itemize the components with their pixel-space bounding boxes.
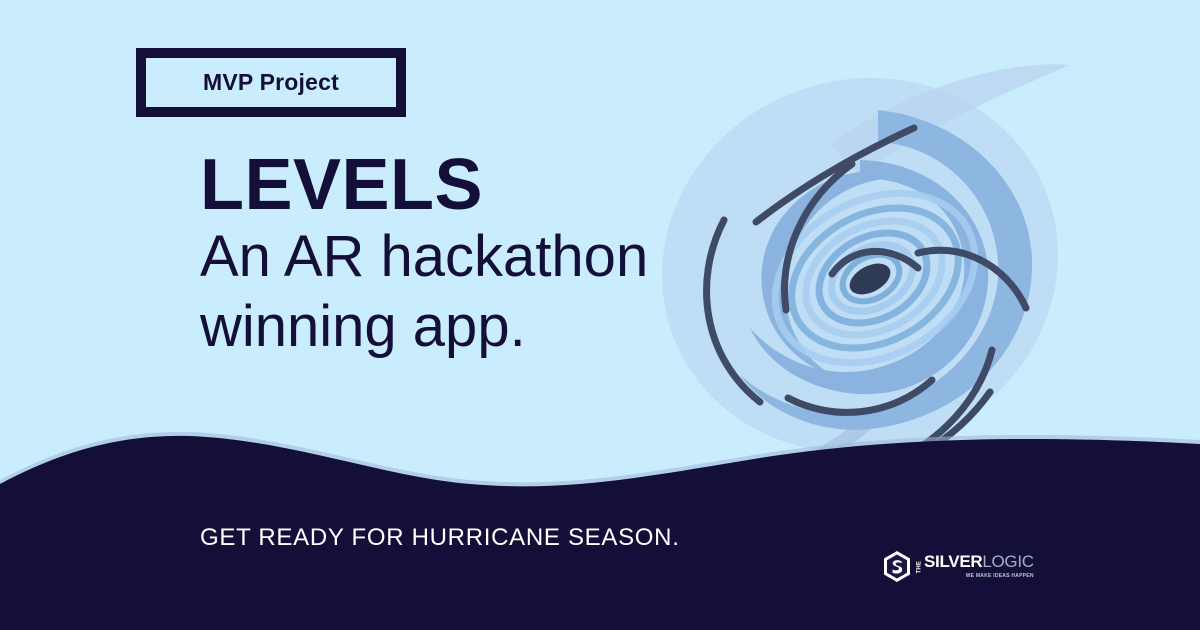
- brand-logic: LOGIC: [982, 553, 1033, 571]
- brand-the: THE: [917, 560, 924, 574]
- the-silver-logic-logo: THE SILVER LOGIC WE MAKE IDEAS HAPPEN: [882, 549, 1034, 583]
- wave-divider: [0, 400, 1200, 630]
- brand-tagline: WE MAKE IDEAS HAPPEN: [917, 573, 1034, 579]
- brand-wordmark: THE SILVER LOGIC: [917, 553, 1034, 571]
- badge-label: MVP Project: [203, 69, 339, 96]
- promo-banner: MVP Project LEVELS An AR hackathon winni…: [0, 0, 1200, 630]
- footer-tagline: GET READY FOR HURRICANE SEASON.: [200, 524, 680, 552]
- headline-subtitle-line-2: winning app.: [200, 292, 760, 362]
- brand-logo-text: THE SILVER LOGIC WE MAKE IDEAS HAPPEN: [917, 550, 1034, 583]
- headline-subtitle-line-1: An AR hackathon: [200, 222, 760, 292]
- mvp-project-badge: MVP Project: [136, 48, 406, 117]
- hexagon-s-logo-icon: [882, 550, 912, 583]
- brand-silver: SILVER: [924, 553, 982, 571]
- headline-block: LEVELS An AR hackathon winning app.: [200, 148, 760, 362]
- page-title: LEVELS: [200, 148, 760, 222]
